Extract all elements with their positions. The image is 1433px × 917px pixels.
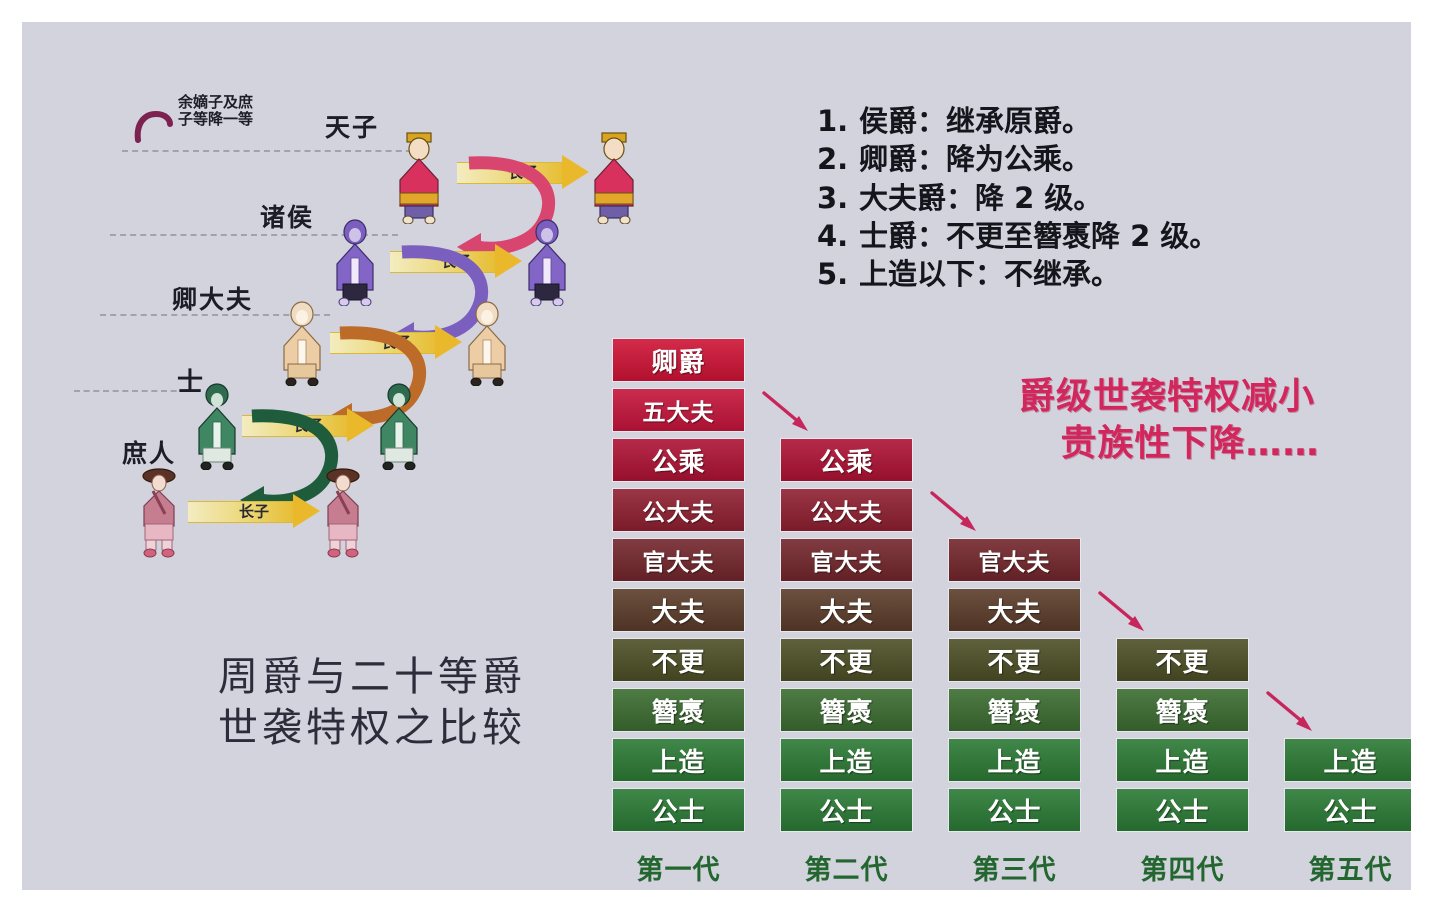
rank-cell[interactable]: 上造 <box>948 738 1081 782</box>
rank-cell[interactable]: 公大夫 <box>612 488 745 532</box>
rank-cell[interactable]: 上造 <box>1116 738 1249 782</box>
demotion-step-arrow <box>1094 588 1152 641</box>
rank-cell[interactable]: 不更 <box>948 638 1081 682</box>
rank-cell[interactable]: 公士 <box>612 788 745 832</box>
demotion-step-arrow <box>926 488 984 541</box>
rank-cell[interactable]: 公士 <box>780 788 913 832</box>
rank-cell[interactable]: 大夫 <box>612 588 745 632</box>
rank-cell[interactable]: 官大夫 <box>612 538 745 582</box>
rank-cell[interactable]: 簪褭 <box>780 688 913 732</box>
rank-cell[interactable]: 公大夫 <box>780 488 913 532</box>
generation-label: 第五代 <box>1284 848 1411 887</box>
rank-cell[interactable]: 大夫 <box>948 588 1081 632</box>
rank-cell[interactable]: 公士 <box>1116 788 1249 832</box>
rank-inheritance-table: 卿爵五大夫公乘公大夫官大夫大夫不更簪褭上造公士第一代公乘公大夫官大夫大夫不更簪褭… <box>22 22 1411 890</box>
demotion-step-arrow <box>1262 688 1320 741</box>
rank-cell[interactable]: 上造 <box>1284 738 1411 782</box>
rank-cell[interactable]: 五大夫 <box>612 388 745 432</box>
rank-cell[interactable]: 大夫 <box>780 588 913 632</box>
rank-cell[interactable]: 不更 <box>612 638 745 682</box>
rank-cell[interactable]: 上造 <box>780 738 913 782</box>
rank-cell[interactable]: 卿爵 <box>612 338 745 382</box>
rank-cell[interactable]: 不更 <box>1116 638 1249 682</box>
slide-canvas: 余嫡子及庶 子等降一等 天子 诸侯 卿大夫 士 庶人 <box>22 22 1411 890</box>
generation-label: 第一代 <box>612 848 745 887</box>
rank-cell[interactable]: 官大夫 <box>948 538 1081 582</box>
rank-cell[interactable]: 官大夫 <box>780 538 913 582</box>
rank-cell[interactable]: 簪褭 <box>948 688 1081 732</box>
generation-label: 第四代 <box>1116 848 1249 887</box>
generation-label: 第二代 <box>780 848 913 887</box>
rank-cell[interactable]: 公乘 <box>612 438 745 482</box>
rank-cell[interactable]: 不更 <box>780 638 913 682</box>
rank-cell[interactable]: 上造 <box>612 738 745 782</box>
rank-cell[interactable]: 簪褭 <box>1116 688 1249 732</box>
demotion-step-arrow <box>758 388 816 441</box>
rank-cell[interactable]: 簪褭 <box>612 688 745 732</box>
rank-cell[interactable]: 公士 <box>1284 788 1411 832</box>
generation-label: 第三代 <box>948 848 1081 887</box>
rank-cell[interactable]: 公士 <box>948 788 1081 832</box>
rank-cell[interactable]: 公乘 <box>780 438 913 482</box>
